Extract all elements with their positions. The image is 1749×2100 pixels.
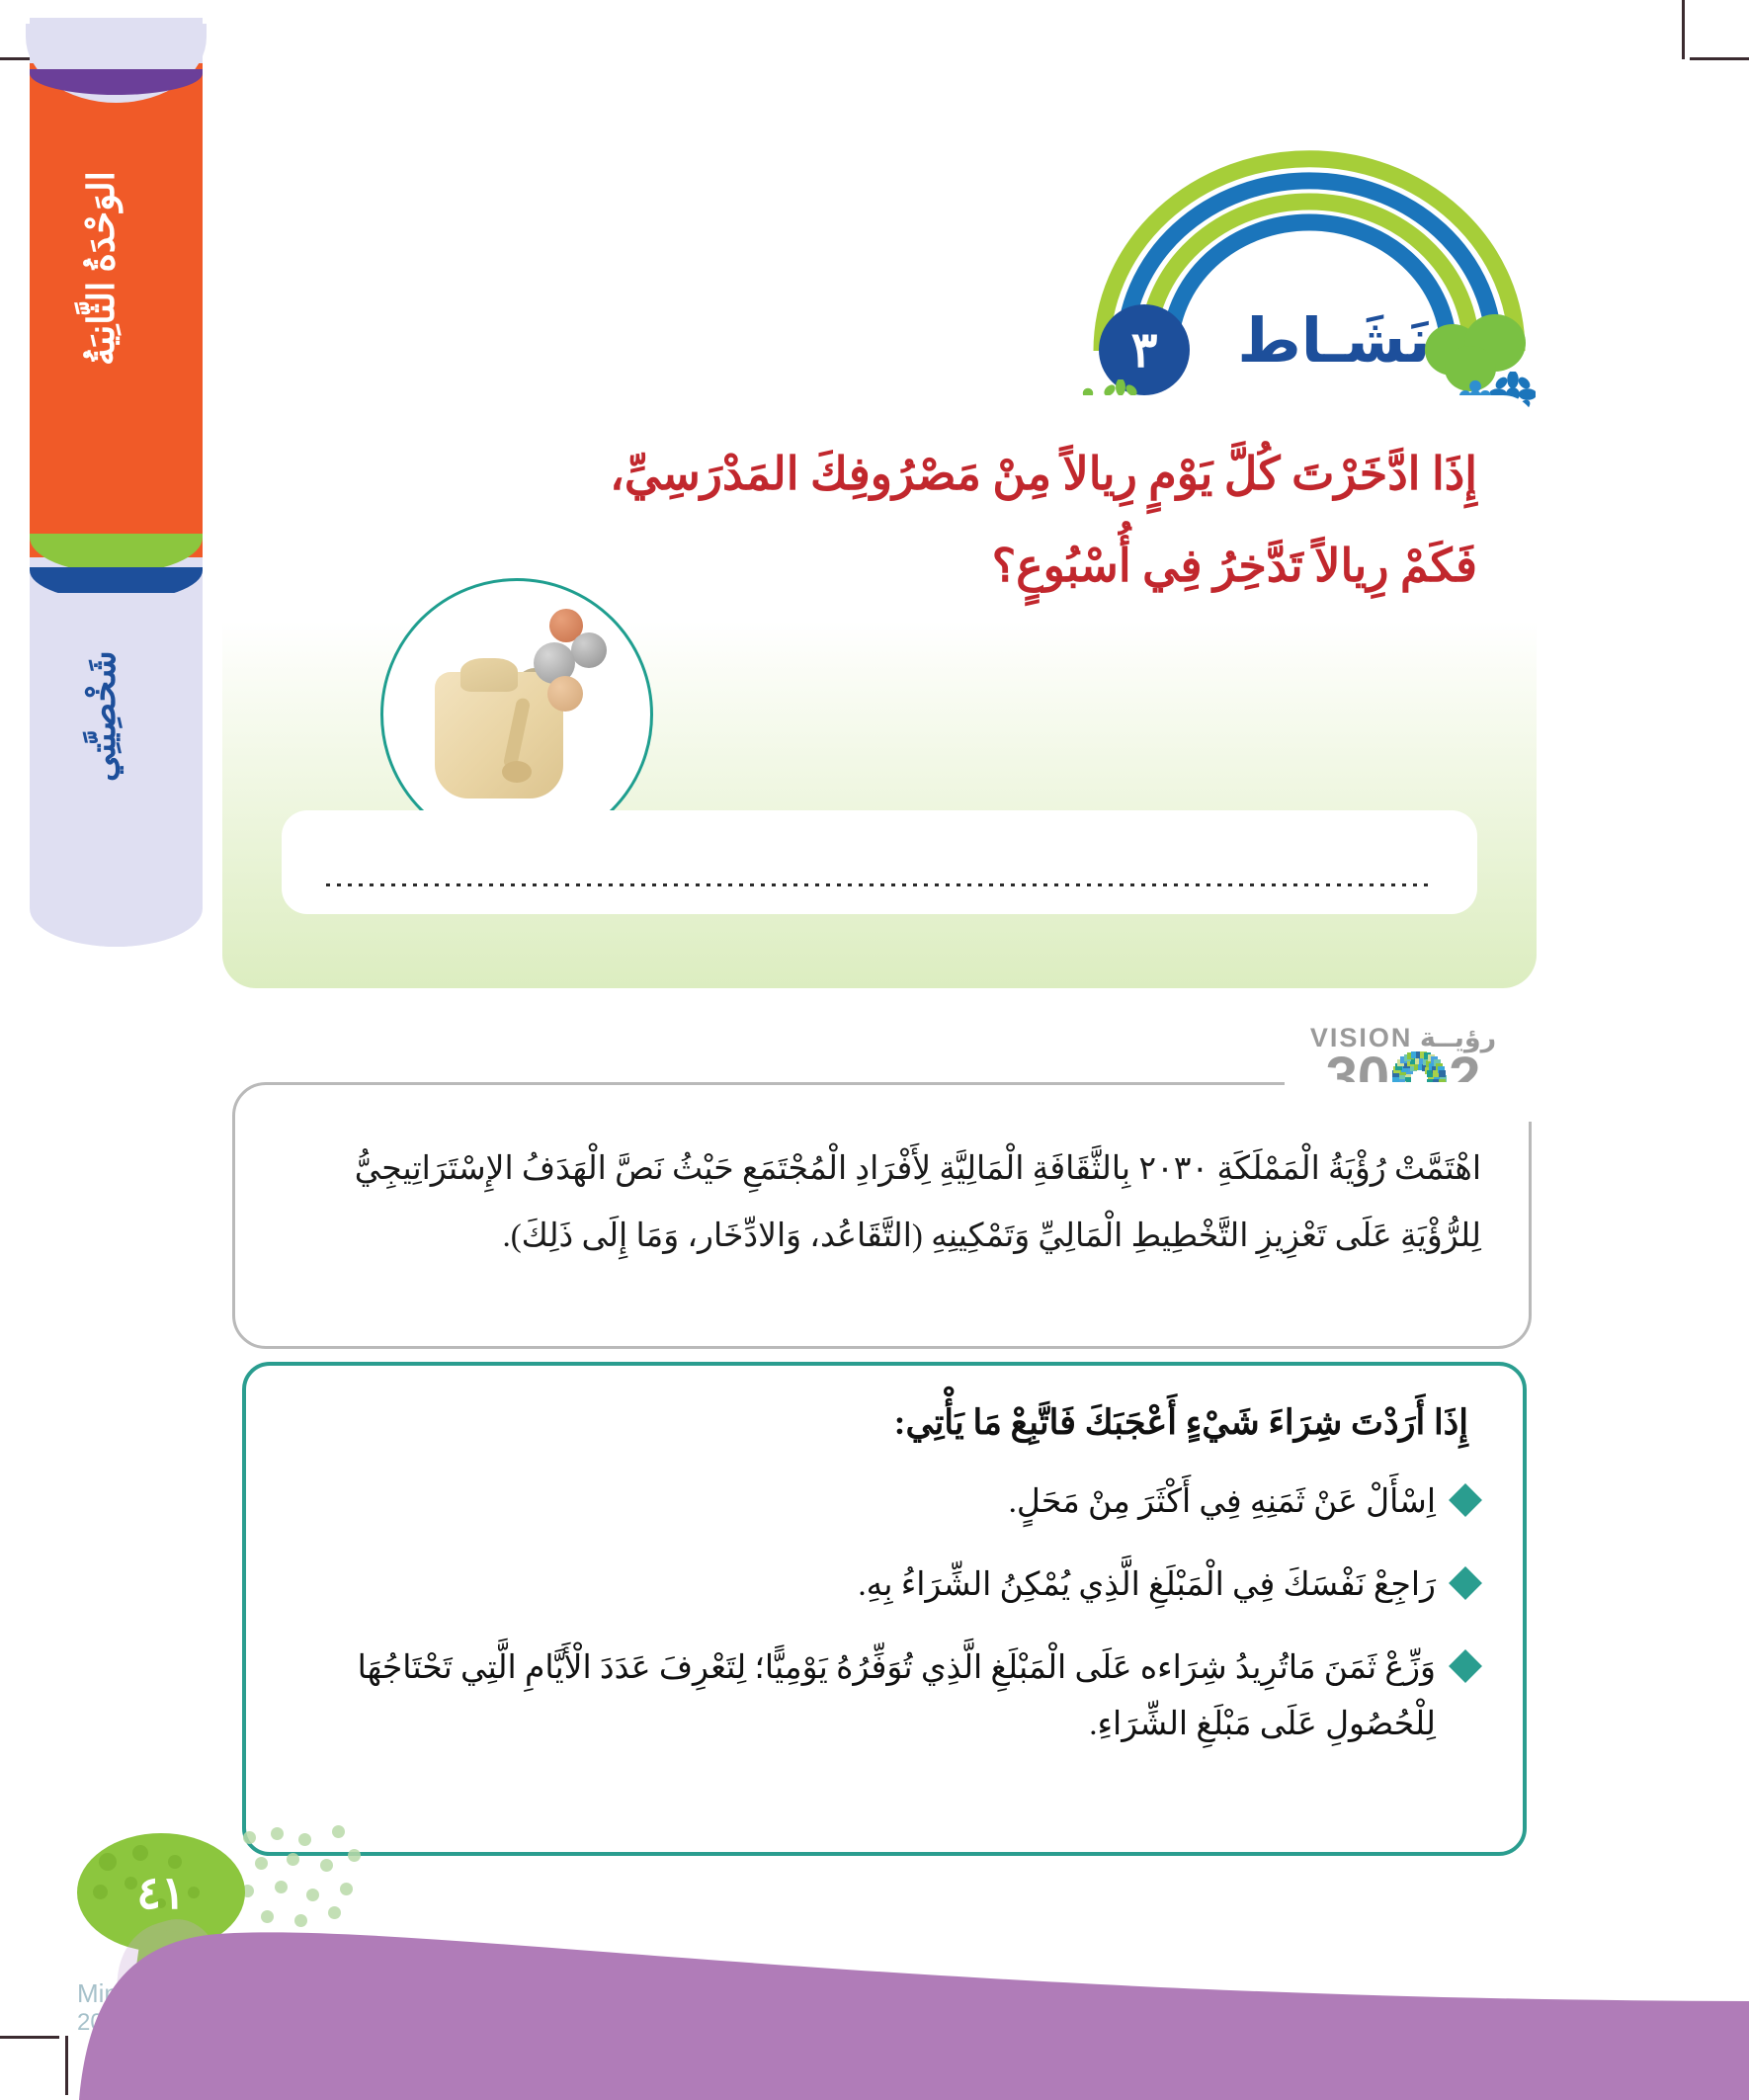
- crop-mark-right-top: [1690, 57, 1749, 60]
- tips-list: اِسْأَلْ عَنْ ثَمَنِهِ فِي أَكْثَرَ مِنْ…: [291, 1474, 1477, 1780]
- pouch-neck-icon: [460, 658, 518, 692]
- list-item: اِسْأَلْ عَنْ ثَمَنِهِ فِي أَكْثَرَ مِنْ…: [291, 1474, 1477, 1532]
- tip-text: وَزِّعْ ثَمَنَ مَاتُرِيدُ شِرَاءه عَلَى …: [291, 1640, 1436, 1755]
- list-item: وَزِّعْ ثَمَنَ مَاتُرِيدُ شِرَاءه عَلَى …: [291, 1640, 1477, 1755]
- pouch-knot-icon: [502, 761, 532, 783]
- question-line-1: إِذَا ادَّخَرْتَ كُلَّ يَوْمٍ رِيالاً مِ…: [610, 449, 1477, 499]
- unit-label: الوَحْدَةُ الثَّانِيَةُ: [81, 171, 124, 497]
- section-label: شَخْصِيَّتِي: [84, 650, 124, 897]
- crop-mark-top-right: [1682, 0, 1685, 59]
- tip-text: اِسْأَلْ عَنْ ثَمَنِهِ فِي أَكْثَرَ مِنْ…: [291, 1474, 1436, 1532]
- activity-header: ٣ نَشَـاط: [1077, 138, 1541, 405]
- coin-icon-4: [547, 676, 583, 712]
- bottom-wave-decoration: [0, 1873, 1749, 2100]
- tips-title: إِذَا أَرَدْتَ شِرَاءَ شَيْءٍ أَعْجَبَكَ…: [894, 1403, 1468, 1443]
- diamond-bullet-icon: [1449, 1483, 1482, 1517]
- answer-box[interactable]: [282, 810, 1477, 914]
- diamond-bullet-icon: [1449, 1566, 1482, 1600]
- activity-title: نَشَـاط: [1210, 304, 1457, 377]
- diamond-bullet-icon: [1449, 1649, 1482, 1683]
- question-panel: إِذَا ادَّخَرْتَ كُلَّ يَوْمٍ رِيالاً مِ…: [222, 395, 1537, 988]
- unit-spine: الوَحْدَةُ الثَّانِيَةُ شَخْصِيَّتِي: [30, 18, 203, 947]
- vision-info-text: اهْتَمَّتْ رُؤْيَةُ الْمَمْلَكَةِ ٢٠٣٠ ب…: [283, 1136, 1481, 1270]
- list-item: رَاجِعْ نَفْسَكَ فِي الْمَبْلَغِ الَّذِي…: [291, 1557, 1477, 1615]
- shopping-tips-box: إِذَا أَرَدْتَ شِرَاءَ شَيْءٍ أَعْجَبَكَ…: [242, 1362, 1527, 1856]
- tip-text: رَاجِعْ نَفْسَكَ فِي الْمَبْلَغِ الَّذِي…: [291, 1557, 1436, 1615]
- answer-writing-line[interactable]: [326, 883, 1433, 886]
- vision-wordmark: رؤيــة VISION: [1285, 1023, 1522, 1053]
- coin-icon-2: [571, 632, 607, 668]
- vision-info-box: اهْتَمَّتْ رُؤْيَةُ الْمَمْلَكَةِ ٢٠٣٠ ب…: [232, 1082, 1532, 1349]
